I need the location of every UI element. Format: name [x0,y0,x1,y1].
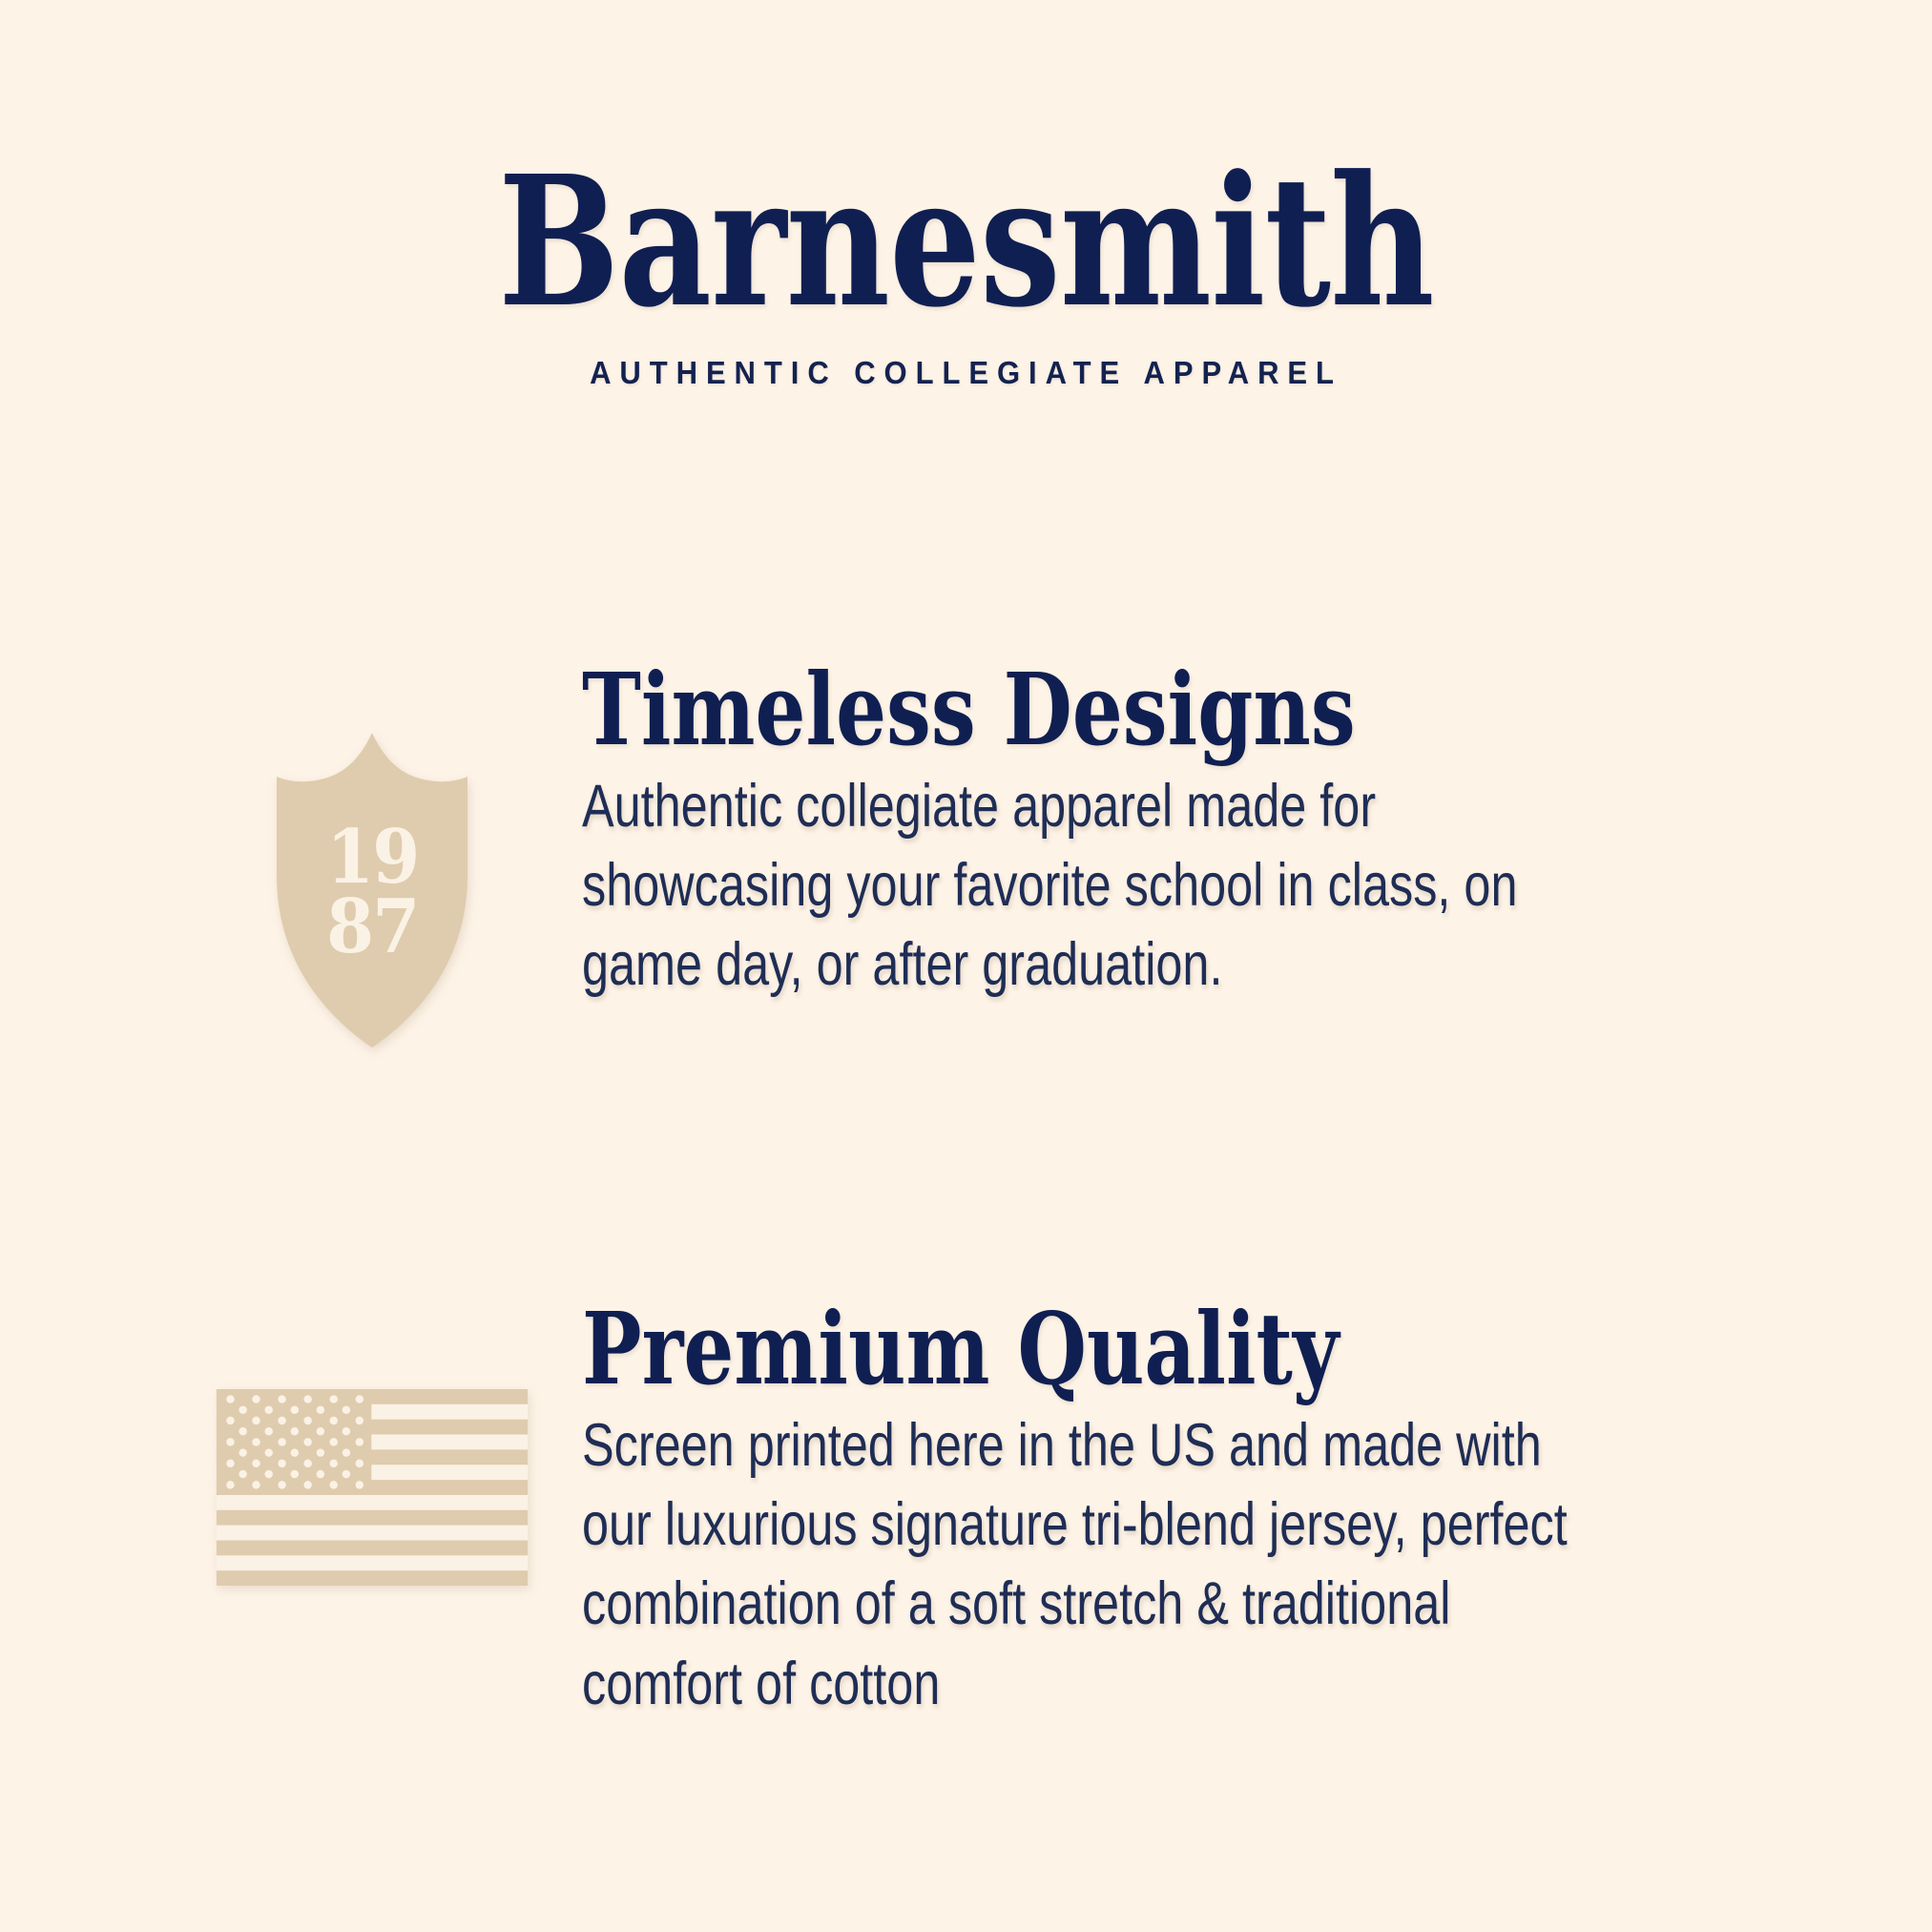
brand-header: Barnesmith AUTHENTIC COLLEGIATE APPAREL [0,153,1932,391]
feature-body: Timeless Designs Authentic collegiate ap… [572,658,1593,1006]
feature-body: Premium Quality Screen printed here in t… [572,1298,1593,1724]
feature-icon-slot [172,1298,572,1586]
feature-description: Screen printed here in the US and made w… [582,1406,1593,1724]
feature-icon-slot: 19 87 [172,658,572,1048]
shield-badge: 19 87 [261,733,483,1048]
brand-name: Barnesmith [194,153,1739,332]
feature-timeless-designs: 19 87 Timeless Designs Authentic collegi… [172,658,1755,1048]
brand-tagline: AUTHENTIC COLLEGIATE APPAREL [58,355,1875,391]
shield-badge-icon [261,733,483,1048]
feature-title: Timeless Designs [582,658,1391,761]
feature-description: Authentic collegiate apparel made for sh… [582,767,1593,1005]
feature-premium-quality: Premium Quality Screen printed here in t… [172,1298,1755,1724]
us-flag-icon [213,1389,531,1586]
feature-title: Premium Quality [582,1298,1391,1401]
brand-feature-page: Barnesmith AUTHENTIC COLLEGIATE APPAREL … [0,0,1932,1932]
